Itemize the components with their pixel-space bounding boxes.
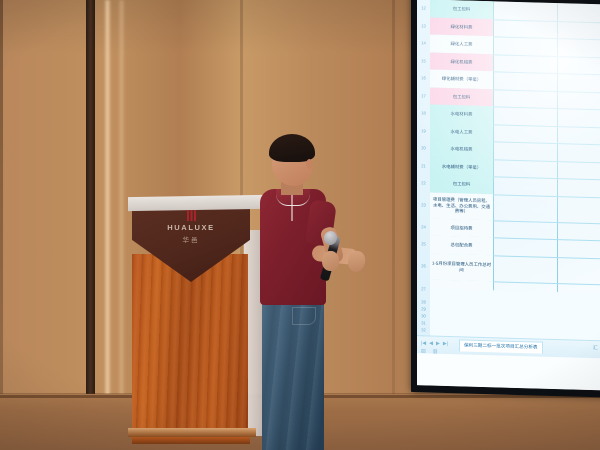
row-number[interactable]: 15 <box>417 58 430 63</box>
row-label-cell[interactable]: 包工包料 <box>430 175 493 194</box>
sheet-nav-last-icon[interactable]: ▶| <box>443 340 448 348</box>
row-number[interactable]: 32 <box>417 327 430 332</box>
row-number[interactable]: 21 <box>417 163 430 168</box>
lectern-base-lower <box>132 437 250 444</box>
presenter-free-hand <box>346 250 366 274</box>
screen-bottom-strip <box>417 353 600 390</box>
row-number[interactable]: 28 <box>417 299 430 304</box>
row-number[interactable]: 12 <box>417 5 430 10</box>
row-label-cell[interactable]: 绿化机械费 <box>430 52 493 71</box>
wall-highlight-strip <box>104 0 111 450</box>
row-number[interactable]: 18 <box>417 110 430 115</box>
hualuxe-emblem-icon <box>187 210 196 221</box>
conference-presentation-scene: 1213141516171819202122232425262728293031… <box>0 0 600 450</box>
wall-panel-seam <box>392 0 395 450</box>
wall-dark-gap-left <box>86 0 95 450</box>
row-number[interactable]: 13 <box>417 23 430 28</box>
row-number[interactable]: 20 <box>417 145 430 150</box>
row-label-cell[interactable]: 水电辅材费（零星） <box>430 157 493 176</box>
row-label-cell[interactable]: 项目招待费 <box>430 218 493 237</box>
row-number[interactable]: 26 <box>417 263 430 268</box>
active-sheet-tab[interactable]: 保利三期二标一批次项目汇总分析表 <box>459 339 543 353</box>
venue-logo: HUALUXE 华邑 <box>138 210 244 244</box>
row-label-cell[interactable]: 水电材料费 <box>430 105 493 124</box>
projected-spreadsheet[interactable]: 1213141516171819202122232425262728293031… <box>417 0 600 390</box>
row-label-cell[interactable]: 项目管理费（管理人员房租、水电、生活、办公费用、交通费等） <box>430 192 493 220</box>
row-label-cell[interactable]: 1-5月份项目管理人员工作总时间 <box>430 253 493 281</box>
row-label-cell[interactable]: 水电机械费 <box>430 140 493 159</box>
presenter-mic-hand <box>322 251 339 271</box>
next-sheet-tab[interactable]: 汇 <box>593 345 598 351</box>
row-number[interactable]: 22 <box>417 180 430 185</box>
presenter-ear <box>306 159 313 169</box>
presenter-hair <box>269 134 315 162</box>
row-number[interactable]: 29 <box>417 306 430 311</box>
lectern: HUALUXE 华邑 <box>128 196 264 450</box>
row-label-cell[interactable]: 绿化辅材费（零星） <box>430 70 493 89</box>
presenter <box>248 135 368 450</box>
row-number[interactable]: 14 <box>417 40 430 45</box>
row-label-cell[interactable]: 绿化材料费 <box>430 17 493 36</box>
polo-placket <box>291 195 293 221</box>
lectern-base-upper <box>128 428 256 437</box>
row-label-cell[interactable]: 包工包料 <box>430 87 493 106</box>
wall-panel-seam <box>0 0 3 450</box>
sheet-nav-next-icon[interactable]: ▶ <box>436 340 440 348</box>
lectern-top-surface <box>128 195 264 211</box>
row-label-cell[interactable]: 总包配合费 <box>430 236 493 255</box>
sheet-nav-prev-icon[interactable]: ◀ <box>429 340 433 348</box>
row-number[interactable]: 24 <box>417 224 430 229</box>
row-number[interactable]: 17 <box>417 93 430 98</box>
row-number[interactable]: 25 <box>417 241 430 246</box>
venue-logo-chinese: 华邑 <box>138 234 244 244</box>
row-number[interactable]: 23 <box>417 202 430 207</box>
row-number[interactable]: 31 <box>417 320 430 325</box>
sheet-nav-first-icon[interactable]: |◀ <box>421 339 426 347</box>
row-number[interactable]: 16 <box>417 75 430 80</box>
trouser-pocket <box>292 307 316 325</box>
row-number[interactable]: 19 <box>417 128 430 133</box>
wall-highlight-strip <box>118 0 125 450</box>
sheet-nav-buttons[interactable]: |◀ ◀ ▶ ▶| <box>421 339 448 348</box>
row-label-cell[interactable]: 绿化人工费 <box>430 35 493 54</box>
projection-screen-frame: 1213141516171819202122232425262728293031… <box>411 0 600 397</box>
row-label-cell[interactable]: 水电人工费 <box>430 122 493 141</box>
row-number-column: 1213141516171819202122232425262728293031… <box>417 0 431 340</box>
row-number[interactable]: 27 <box>417 286 430 291</box>
presenter-trousers <box>262 295 324 450</box>
venue-logo-english: HUALUXE <box>138 223 244 232</box>
row-label-cell[interactable]: 包工包料 <box>430 0 493 19</box>
row-number[interactable]: 30 <box>417 313 430 318</box>
